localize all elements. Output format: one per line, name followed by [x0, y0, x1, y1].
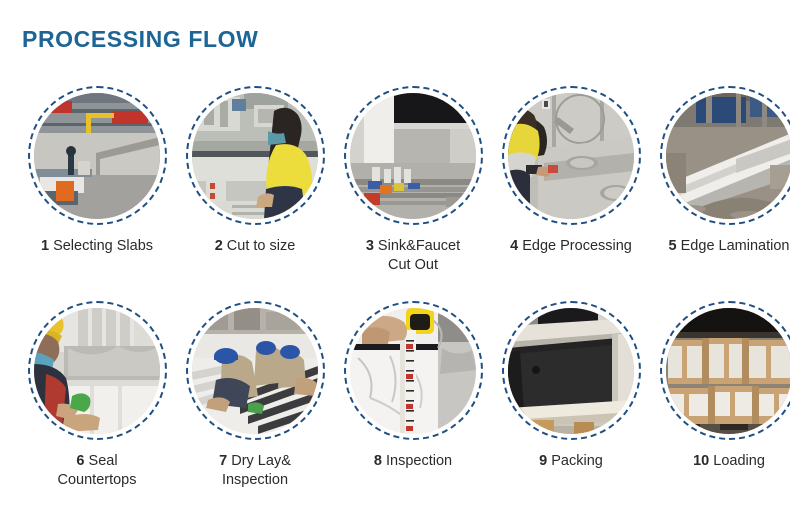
process-step-3[interactable]: 3 Sink&Faucet Cut Out: [338, 86, 488, 275]
photo-loading: [666, 308, 790, 434]
step-label: Cut to size: [223, 238, 296, 254]
photo-packing: [508, 308, 634, 434]
step-label: Seal Countertops: [58, 453, 137, 488]
step-label: Inspection: [382, 453, 452, 469]
step-caption-7: 7 Dry Lay& Inspection: [177, 452, 333, 490]
photo-ring-7: [186, 301, 325, 440]
step-label: Sink&Faucet Cut Out: [374, 238, 460, 273]
step-number: 2: [215, 238, 223, 254]
step-caption-5: 5 Edge Lamination: [651, 237, 790, 256]
step-number: 7: [219, 453, 227, 469]
process-row-1: 1 Selecting Slabs: [0, 86, 790, 275]
photo-ring-8: [344, 301, 483, 440]
step-number: 10: [693, 453, 709, 469]
step-number: 1: [41, 238, 49, 254]
photo-ring-6: [28, 301, 167, 440]
step-caption-3: 3 Sink&Faucet Cut Out: [335, 237, 491, 275]
photo-ring-4: [502, 86, 641, 225]
step-number: 9: [539, 453, 547, 469]
page-title: PROCESSING FLOW: [22, 26, 258, 53]
process-row-2: 6 Seal Countertops: [0, 301, 790, 490]
photo-ring-1: [28, 86, 167, 225]
photo-seal-countertops: [34, 308, 160, 434]
photo-sink-faucet-cut-out: [350, 93, 476, 219]
process-step-8[interactable]: 8 Inspection: [338, 301, 488, 490]
process-step-5[interactable]: 5 Edge Lamination: [654, 86, 790, 275]
step-number: 4: [510, 238, 518, 254]
process-step-6[interactable]: 6 Seal Countertops: [22, 301, 172, 490]
step-number: 5: [669, 238, 677, 254]
step-caption-1: 1 Selecting Slabs: [19, 237, 175, 256]
step-caption-10: 10 Loading: [651, 452, 790, 471]
step-caption-4: 4 Edge Processing: [493, 237, 649, 256]
photo-cut-to-size: [192, 93, 318, 219]
step-caption-9: 9 Packing: [493, 452, 649, 471]
process-step-4[interactable]: 4 Edge Processing: [496, 86, 646, 275]
process-step-7[interactable]: 7 Dry Lay& Inspection: [180, 301, 330, 490]
step-label: Selecting Slabs: [49, 238, 153, 254]
processing-flow-page: PROCESSING FLOW: [0, 0, 790, 520]
step-label: Loading: [709, 453, 765, 469]
process-step-2[interactable]: 2 Cut to size: [180, 86, 330, 275]
step-label: Packing: [547, 453, 603, 469]
photo-selecting-slabs: [34, 93, 160, 219]
photo-edge-processing: [508, 93, 634, 219]
photo-inspection: [350, 308, 476, 434]
process-step-10[interactable]: 10 Loading: [654, 301, 790, 490]
step-number: 3: [366, 238, 374, 254]
photo-dry-lay-inspection: [192, 308, 318, 434]
step-label: Dry Lay& Inspection: [222, 453, 291, 488]
step-caption-6: 6 Seal Countertops: [19, 452, 175, 490]
step-label: Edge Processing: [518, 238, 632, 254]
process-step-9[interactable]: 9 Packing: [496, 301, 646, 490]
photo-edge-lamination: [666, 93, 790, 219]
photo-ring-2: [186, 86, 325, 225]
photo-ring-10: [660, 301, 790, 440]
step-number: 8: [374, 453, 382, 469]
photo-ring-3: [344, 86, 483, 225]
step-caption-2: 2 Cut to size: [177, 237, 333, 256]
process-step-1[interactable]: 1 Selecting Slabs: [22, 86, 172, 275]
step-label: Edge Lamination: [677, 238, 790, 254]
photo-ring-5: [660, 86, 790, 225]
step-number: 6: [76, 453, 84, 469]
photo-ring-9: [502, 301, 641, 440]
step-caption-8: 8 Inspection: [335, 452, 491, 471]
